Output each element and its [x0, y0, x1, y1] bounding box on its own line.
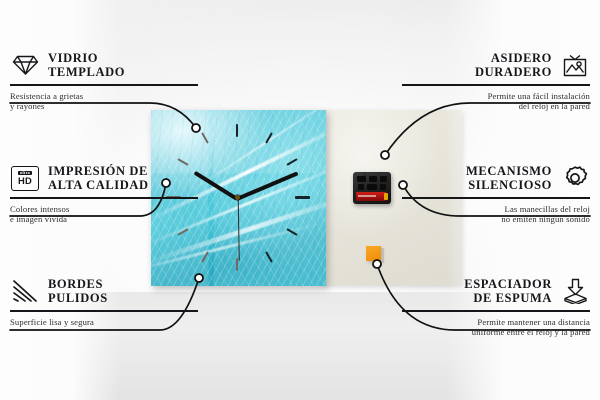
mechanism-port — [358, 184, 364, 190]
feature-mecanismo-silencioso: MECANISMO SILENCIOSO Las manecillas del … — [402, 163, 590, 225]
feature-desc-line-2: no emiten ningún sonido — [402, 214, 590, 225]
foam-spacer-swatch — [366, 246, 381, 261]
feature-vidrio-templado: VIDRIO TEMPLADO Resistencia a grietas y … — [10, 50, 198, 112]
clock-mechanism — [353, 172, 391, 204]
hanging-picture-icon — [560, 50, 590, 80]
feature-desc-line-1: Permite una fácil instalación — [402, 91, 590, 102]
feature-desc-line-1: Resistencia a grietas — [10, 91, 198, 102]
diamond-icon — [10, 50, 40, 80]
feature-divider — [10, 310, 198, 312]
feature-asidero-duradero: ASIDERO DURADERO Permite una fácil insta… — [402, 50, 590, 112]
ultra-hd-badge: ultra HD — [11, 166, 39, 191]
feature-divider — [402, 197, 590, 199]
clock-hub — [235, 195, 240, 200]
feature-title: BORDES PULIDOS — [48, 277, 108, 305]
battery-terminal — [384, 193, 388, 200]
battery — [356, 192, 386, 201]
feature-title: ESPACIADOR DE ESPUMA — [464, 277, 552, 305]
feature-header: ASIDERO DURADERO — [402, 50, 590, 80]
feature-divider — [10, 197, 198, 199]
feature-desc-line-2: uniforme entre el reloj y la pared — [402, 327, 590, 338]
feature-desc-line-2: e imagen vívida — [10, 214, 198, 225]
feature-title: ASIDERO DURADERO — [475, 51, 552, 79]
feature-impresion-alta-calidad: ultra HD IMPRESIÓN DE ALTA CALIDAD Color… — [10, 163, 198, 225]
feature-header: ESPACIADOR DE ESPUMA — [402, 276, 590, 306]
polished-edges-icon — [10, 276, 40, 306]
feature-bordes-pulidos: BORDES PULIDOS Superficie lisa y segura — [10, 276, 198, 327]
feature-title: VIDRIO TEMPLADO — [48, 51, 125, 79]
feature-title: IMPRESIÓN DE ALTA CALIDAD — [48, 164, 149, 192]
feature-header: BORDES PULIDOS — [10, 276, 198, 306]
mechanism-port — [357, 176, 366, 182]
down-arrow-pad-icon — [560, 276, 590, 306]
mechanism-port — [367, 184, 377, 190]
mechanism-port — [380, 184, 386, 190]
clock-tick-6 — [236, 258, 238, 271]
feature-desc-line-1: Superficie lisa y segura — [10, 317, 198, 328]
feature-title: MECANISMO SILENCIOSO — [466, 164, 552, 192]
feature-desc-line-1: Permite mantener una distancia — [402, 317, 590, 328]
clock-tick-12 — [236, 124, 238, 137]
feature-header: VIDRIO TEMPLADO — [10, 50, 198, 80]
ultra-hd-badge-main: HD — [18, 176, 32, 185]
clock-tick-3 — [295, 196, 310, 199]
feature-header: ultra HD IMPRESIÓN DE ALTA CALIDAD — [10, 163, 198, 193]
feature-espaciador-de-espuma: ESPACIADOR DE ESPUMA Permite mantener un… — [402, 276, 590, 338]
feature-desc-line-1: Las manecillas del reloj — [402, 204, 590, 215]
mechanism-port — [369, 176, 377, 182]
mechanism-port — [380, 176, 387, 182]
feature-desc-line-2: y rayones — [10, 101, 198, 112]
feature-divider — [10, 84, 198, 86]
battery-stripe — [358, 195, 376, 197]
feature-header: MECANISMO SILENCIOSO — [402, 163, 590, 193]
ultra-hd-icon: ultra HD — [10, 163, 40, 193]
feature-desc-line-2: del reloj en la pared — [402, 101, 590, 112]
feature-desc-line-1: Colores intensos — [10, 204, 198, 215]
product-infographic: VIDRIO TEMPLADO Resistencia a grietas y … — [0, 0, 600, 400]
gear-icon — [560, 163, 590, 193]
feature-divider — [402, 84, 590, 86]
feature-divider — [402, 310, 590, 312]
